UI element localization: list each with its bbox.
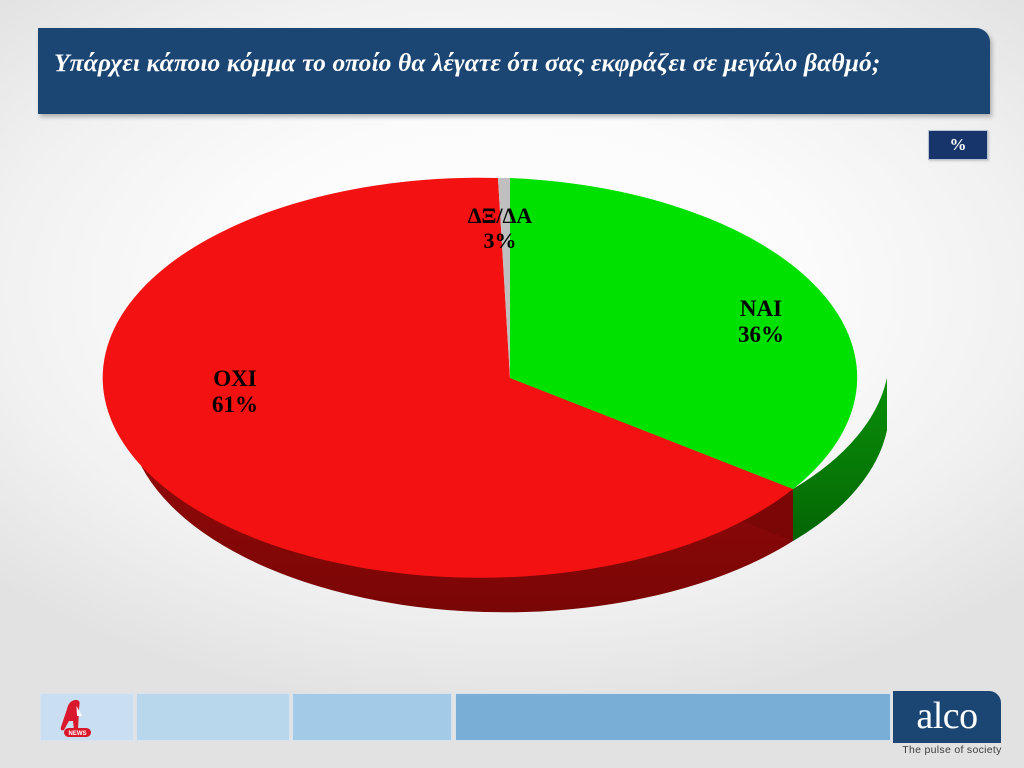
slice-label-dxda: ΔΞ/ΔΑ 3% <box>420 204 580 253</box>
pie-chart-svg <box>0 0 1024 700</box>
slice-label-oxi: OXI 61% <box>160 366 310 418</box>
footer-bar-4 <box>455 693 891 741</box>
alco-tagline: The pulse of society <box>893 744 1011 756</box>
slice-label-nai-value: 36% <box>686 322 836 348</box>
svg-text:NEWS: NEWS <box>69 731 87 737</box>
footer-bar-3 <box>292 693 452 741</box>
slide-canvas: Υπάρχει κάποιο κόμμα το οποίο θα λέγατε … <box>0 0 1024 768</box>
footer-bar-strip <box>0 693 1024 743</box>
slice-label-nai-name: NAI <box>686 296 836 322</box>
footer-bar-2 <box>136 693 290 741</box>
alco-wordmark: alco <box>916 697 977 735</box>
slice-label-dxda-name: ΔΞ/ΔΑ <box>420 204 580 229</box>
pie-chart: NAI 36% OXI 61% ΔΞ/ΔΑ 3% <box>0 0 1024 700</box>
slice-label-oxi-value: 61% <box>160 392 310 418</box>
slice-label-nai: NAI 36% <box>686 296 836 348</box>
slice-label-dxda-value: 3% <box>420 229 580 254</box>
slice-label-oxi-name: OXI <box>160 366 310 392</box>
alpha-news-logo-icon: NEWS <box>56 697 100 739</box>
alco-logo: alco <box>893 691 1001 743</box>
